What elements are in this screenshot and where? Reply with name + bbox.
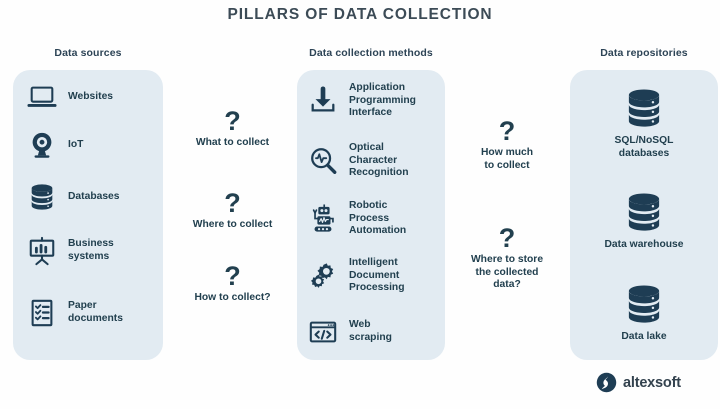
list-item-label: Robotic Process Automation xyxy=(349,200,406,238)
question-mark-icon: ? xyxy=(224,263,241,289)
question-label: What to collect xyxy=(196,137,269,150)
list-item-label: Data lake xyxy=(621,331,666,344)
column-header-data-collection-methods: Data collection methods xyxy=(297,47,445,59)
question-label: How much to collect xyxy=(481,147,533,172)
infographic-canvas: PILLARS OF DATA COLLECTION Data sources … xyxy=(0,0,720,409)
list-item-label: Intelligent Document Processing xyxy=(349,257,405,295)
question-where-to-store-the-collected-data: ? Where to store the collected data? xyxy=(447,225,567,292)
list-item-business-systems[interactable]: Business systems xyxy=(25,234,114,268)
question-label: How to collect? xyxy=(194,292,270,305)
list-item-label: Web scraping xyxy=(349,319,392,344)
database-icon xyxy=(25,180,59,214)
question-how-much-to-collect: ? How much to collect xyxy=(447,118,567,172)
presentation-chart-icon xyxy=(25,234,59,268)
list-item-intelligent-document-processing[interactable]: Intelligent Document Processing xyxy=(306,257,405,295)
list-item-databases[interactable]: Databases xyxy=(25,180,120,214)
laptop-icon xyxy=(25,80,59,114)
question-mark-icon: ? xyxy=(224,190,241,216)
webcam-icon xyxy=(25,128,59,162)
database-icon xyxy=(622,282,666,326)
question-mark-icon: ? xyxy=(224,108,241,134)
column-header-data-sources: Data sources xyxy=(13,47,163,59)
list-item-paper-documents[interactable]: Paper documents xyxy=(25,296,123,330)
gears-icon xyxy=(306,259,340,293)
list-item-label: Websites xyxy=(68,91,113,104)
list-item-label: Business systems xyxy=(68,238,114,263)
list-item-label: IoT xyxy=(68,139,83,152)
robot-icon xyxy=(306,202,340,236)
list-item-sql-nosql-databases[interactable]: SQL/NoSQL databases xyxy=(570,86,718,160)
database-icon xyxy=(622,86,666,130)
question-mark-icon: ? xyxy=(499,225,516,251)
list-item-label: Databases xyxy=(68,191,120,204)
download-arrow-icon xyxy=(306,84,340,118)
list-item-label: Data warehouse xyxy=(605,239,684,252)
list-item-optical-character-recognition[interactable]: Optical Character Recognition xyxy=(306,142,409,180)
list-item-label: SQL/NoSQL databases xyxy=(615,135,674,160)
list-item-label: Application Programming Interface xyxy=(349,82,416,120)
database-icon xyxy=(622,190,666,234)
question-how-to-collect: ? How to collect? xyxy=(170,263,295,305)
list-item-websites[interactable]: Websites xyxy=(25,80,113,114)
question-mark-icon: ? xyxy=(499,118,516,144)
magnifier-icon xyxy=(306,144,340,178)
code-browser-icon xyxy=(306,315,340,349)
list-item-data-lake[interactable]: Data lake xyxy=(570,282,718,344)
question-label: Where to store the collected data? xyxy=(471,254,543,292)
brand-logo[interactable]: altexsoft xyxy=(596,372,681,393)
question-label: Where to collect xyxy=(193,219,273,232)
question-where-to-collect: ? Where to collect xyxy=(170,190,295,232)
brand-name: altexsoft xyxy=(623,375,681,391)
list-item-data-warehouse[interactable]: Data warehouse xyxy=(570,190,718,252)
question-what-to-collect: ? What to collect xyxy=(170,108,295,150)
altexsoft-logo-icon xyxy=(596,372,617,393)
column-header-data-repositories: Data repositories xyxy=(570,47,718,59)
list-item-label: Paper documents xyxy=(68,300,123,325)
list-item-web-scraping[interactable]: Web scraping xyxy=(306,315,392,349)
list-item-label: Optical Character Recognition xyxy=(349,142,409,180)
checklist-icon xyxy=(25,296,59,330)
page-title: PILLARS OF DATA COLLECTION xyxy=(0,6,720,24)
list-item-robotic-process-automation[interactable]: Robotic Process Automation xyxy=(306,200,406,238)
list-item-iot[interactable]: IoT xyxy=(25,128,83,162)
list-item-application-programming-interface[interactable]: Application Programming Interface xyxy=(306,82,416,120)
